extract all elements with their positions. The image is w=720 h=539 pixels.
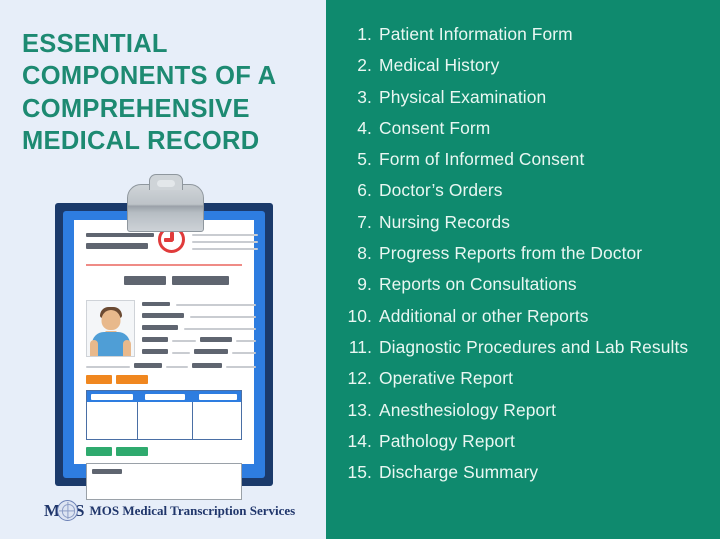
cross-horizontal <box>164 238 173 242</box>
clipboard-clip-slot <box>157 180 175 187</box>
clipboard-clip-icon <box>127 184 204 232</box>
section-tag-orange <box>116 375 148 384</box>
table-column-divider <box>192 402 193 439</box>
form-field-value <box>190 316 256 318</box>
form-field-value <box>236 340 256 342</box>
list-item: 13. Anesthesiology Report <box>326 395 720 426</box>
list-item-label: Diagnostic Procedures and Lab Results <box>379 332 720 363</box>
results-table <box>86 390 242 440</box>
list-item-number: 10. <box>326 301 379 332</box>
list-item-label: Pathology Report <box>379 426 720 457</box>
form-field-label <box>142 313 184 318</box>
medical-record-clipboard-illustration <box>55 203 273 486</box>
section-tag-orange <box>86 375 112 384</box>
globe-icon <box>57 500 78 521</box>
list-item-number: 8. <box>326 238 379 269</box>
list-item: 11. Diagnostic Procedures and Lab Result… <box>326 332 720 363</box>
list-item-number: 5. <box>326 144 379 175</box>
form-header-line <box>86 243 148 249</box>
list-item: 2. Medical History <box>326 50 720 81</box>
list-item: 3. Physical Examination <box>326 82 720 113</box>
form-field-label <box>142 325 178 330</box>
form-field-value <box>176 304 256 306</box>
form-field-label <box>142 337 168 342</box>
list-item-number: 4. <box>326 113 379 144</box>
form-divider-rule <box>86 264 242 266</box>
list-item: 15. Discharge Summary <box>326 457 720 488</box>
avatar-arm-left <box>90 340 98 356</box>
avatar-head <box>101 310 120 330</box>
list-item: 12. Operative Report <box>326 363 720 394</box>
list-item-label: Patient Information Form <box>379 19 720 50</box>
notes-box <box>86 463 242 500</box>
section-tag-green <box>86 447 112 456</box>
list-item-label: Progress Reports from the Doctor <box>379 238 720 269</box>
list-item-label: Medical History <box>379 50 720 81</box>
list-item-label: Doctor’s Orders <box>379 175 720 206</box>
list-item: 1. Patient Information Form <box>326 19 720 50</box>
form-field-value <box>86 366 130 368</box>
form-field-label <box>142 302 170 306</box>
list-item-number: 2. <box>326 50 379 81</box>
list-item-number: 7. <box>326 207 379 238</box>
list-item-number: 1. <box>326 19 379 50</box>
list-item-label: Discharge Summary <box>379 457 720 488</box>
list-item: 7. Nursing Records <box>326 207 720 238</box>
list-item-number: 15. <box>326 457 379 488</box>
table-header-cell <box>145 394 185 400</box>
right-panel: 1. Patient Information Form 2. Medical H… <box>326 0 720 539</box>
infographic-poster: ESSENTIAL COMPONENTS OF A COMPREHENSIVE … <box>0 0 720 539</box>
list-item-number: 9. <box>326 269 379 300</box>
list-item-number: 12. <box>326 363 379 394</box>
page-title: ESSENTIAL COMPONENTS OF A COMPREHENSIVE … <box>22 28 312 158</box>
components-list: 1. Patient Information Form 2. Medical H… <box>326 19 720 488</box>
list-item-number: 13. <box>326 395 379 426</box>
list-item-number: 6. <box>326 175 379 206</box>
form-field-label <box>124 276 166 285</box>
list-item: 6. Doctor’s Orders <box>326 175 720 206</box>
form-field-label <box>142 349 168 354</box>
form-field-value <box>166 366 188 368</box>
brand-logo: M S MOS Medical Transcription Services <box>44 500 295 521</box>
list-item: 4. Consent Form <box>326 113 720 144</box>
list-item-label: Additional or other Reports <box>379 301 720 332</box>
globe-inner-ellipse <box>62 504 75 518</box>
list-item: 5. Form of Informed Consent <box>326 144 720 175</box>
form-field-label <box>192 363 222 368</box>
list-item-number: 11. <box>326 332 379 363</box>
table-header-row <box>87 391 241 402</box>
list-item-label: Nursing Records <box>379 207 720 238</box>
logo-mark: M S <box>44 500 85 521</box>
table-header-cell <box>91 394 133 400</box>
list-item-label: Anesthesiology Report <box>379 395 720 426</box>
list-item-label: Operative Report <box>379 363 720 394</box>
list-item: 8. Progress Reports from the Doctor <box>326 238 720 269</box>
table-header-cell <box>199 394 237 400</box>
list-item-label: Form of Informed Consent <box>379 144 720 175</box>
form-field-label <box>134 363 162 368</box>
section-tag-green <box>116 447 148 456</box>
avatar-arm-right <box>123 340 131 356</box>
list-item: 9. Reports on Consultations <box>326 269 720 300</box>
record-form-paper <box>74 220 254 464</box>
form-header-line <box>192 241 258 243</box>
left-panel: ESSENTIAL COMPONENTS OF A COMPREHENSIVE … <box>0 0 326 539</box>
form-field-value <box>184 328 256 330</box>
form-field-label <box>200 337 232 342</box>
list-item-number: 3. <box>326 82 379 113</box>
notes-label <box>92 469 122 474</box>
list-item: 10. Additional or other Reports <box>326 301 720 332</box>
list-item-label: Physical Examination <box>379 82 720 113</box>
logo-text: MOS Medical Transcription Services <box>90 503 296 519</box>
table-column-divider <box>137 402 138 439</box>
list-item-label: Reports on Consultations <box>379 269 720 300</box>
form-field-value <box>232 352 256 354</box>
form-header-line <box>192 248 258 250</box>
form-header-line <box>192 234 258 236</box>
patient-photo-avatar <box>86 300 135 357</box>
form-field-value <box>226 366 256 368</box>
form-field-label <box>194 349 228 354</box>
form-field-label <box>172 276 229 285</box>
list-item: 14. Pathology Report <box>326 426 720 457</box>
list-item-label: Consent Form <box>379 113 720 144</box>
form-field-value <box>172 352 190 354</box>
list-item-number: 14. <box>326 426 379 457</box>
form-field-value <box>172 340 196 342</box>
form-header-line <box>86 233 154 237</box>
